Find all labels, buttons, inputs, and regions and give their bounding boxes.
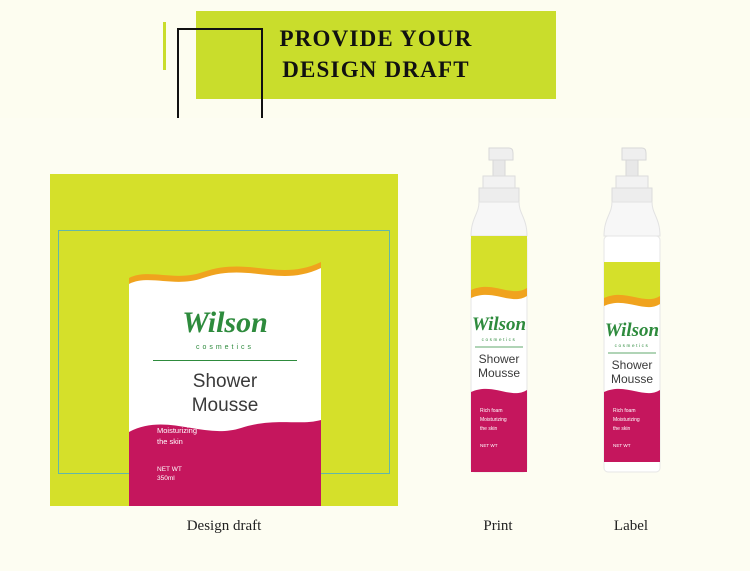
print-bottle-brand: Wilson: [472, 314, 526, 335]
design-draft-label-artwork: Wilson cosmetics Shower Mousse Rich foam…: [129, 254, 321, 506]
print-bottle-net: NET WT: [480, 443, 498, 448]
label-desc-line-1: Rich foam: [157, 413, 307, 425]
caption-print: Print: [443, 518, 553, 535]
label-net-line-1: NET WT: [157, 465, 307, 475]
label-product-line-1: Shower: [129, 370, 321, 394]
label-brand: Wilson: [129, 306, 321, 340]
print-bottle-brand-sub: cosmetics: [482, 337, 517, 342]
print-bottle: Wilson cosmetics Shower Mousse Rich foam…: [455, 144, 541, 496]
label-top-wave: [129, 254, 321, 294]
label-divider: [153, 360, 297, 361]
content-area: Wilson cosmetics Shower Mousse Rich foam…: [0, 118, 750, 571]
label-net-line-2: 350ml: [157, 474, 307, 484]
print-bottle-desc-line-1: Rich foam: [480, 408, 503, 414]
label-bottle-desc-line-3: the skin: [613, 426, 630, 432]
print-bottle-product-line-2: Mousse: [478, 366, 520, 380]
label-net-weight: NET WT 350ml: [157, 465, 307, 485]
print-bottle-product-line-1: Shower: [479, 352, 520, 366]
label-bottle-brand-sub: cosmetics: [615, 343, 650, 348]
accent-bar-left: [163, 22, 166, 70]
page-title: PROVIDE YOUR DESIGN DRAFT: [196, 11, 556, 99]
label-description: Rich foam Moisturizing the skin: [157, 413, 307, 448]
design-draft-card: Wilson cosmetics Shower Mousse Rich foam…: [50, 174, 398, 506]
page-title-line-1: PROVIDE YOUR: [279, 25, 472, 54]
label-bottle-product-line-1: Shower: [612, 358, 653, 372]
print-bottle-desc-line-3: the skin: [480, 426, 497, 432]
print-bottle-desc-line-2: Moisturizing: [480, 417, 507, 423]
label-desc-line-3: the skin: [157, 436, 307, 448]
label-bottle-brand: Wilson: [605, 320, 659, 341]
label-bottle-product-line-2: Mousse: [611, 372, 653, 386]
label-brand-sub: cosmetics: [129, 344, 321, 351]
caption-design-draft: Design draft: [50, 518, 398, 535]
page-root: PROVIDE YOUR DESIGN DRAFT Wilson cosmeti…: [0, 0, 750, 571]
header-band: PROVIDE YOUR DESIGN DRAFT: [0, 0, 750, 119]
label-bottle-desc-line-1: Rich foam: [613, 408, 636, 414]
label-desc-line-2: Moisturizing: [157, 425, 307, 437]
label-bottle-net: NET WT: [613, 443, 631, 448]
label-bottle-desc-line-2: Moisturizing: [613, 417, 640, 423]
caption-label: Label: [576, 518, 686, 535]
label-bottle: Wilson cosmetics Shower Mousse Rich foam…: [588, 144, 674, 496]
page-title-line-2: DESIGN DRAFT: [282, 56, 470, 85]
